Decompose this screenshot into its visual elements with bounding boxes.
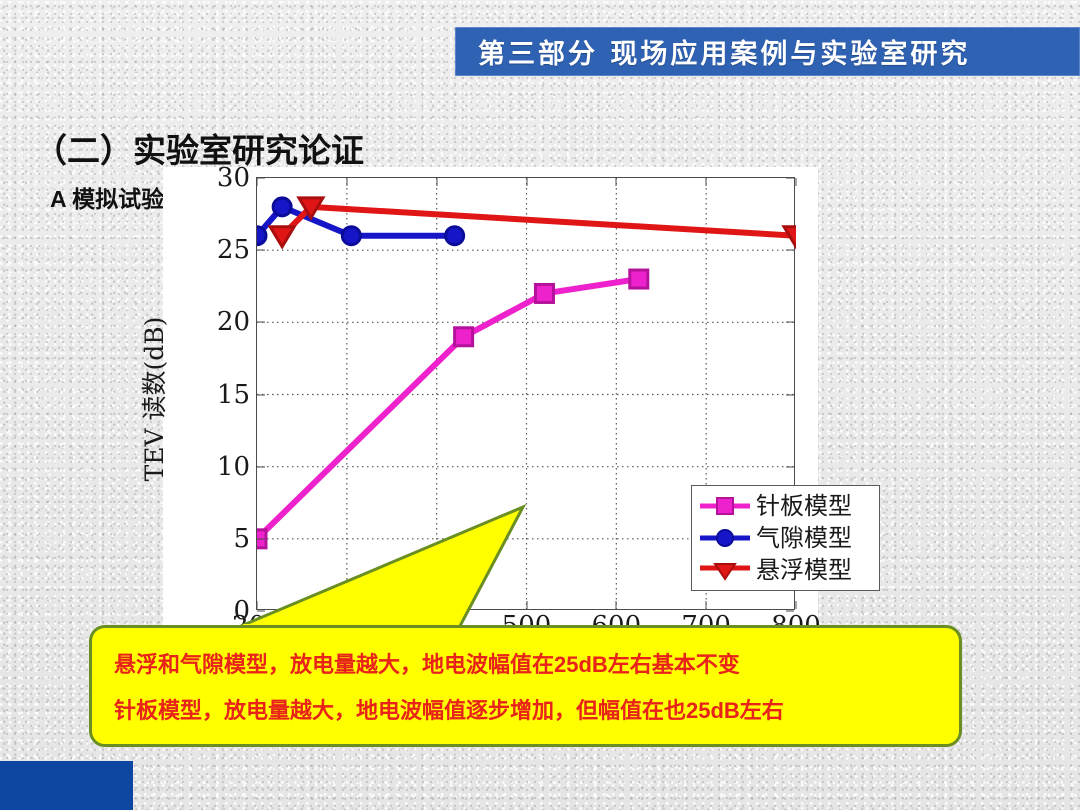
y-tick-label: 5 [233, 524, 250, 554]
data-point-marker [270, 227, 294, 247]
header-title: 第三部分 现场应用案例与实验室研究 [456, 32, 970, 71]
callout-line-2: 针板模型，放电量越大，地电波幅值逐步增加，但幅值在也25dB左右 [114, 693, 937, 725]
x-tick-mark [346, 601, 347, 609]
y-tick-mark [257, 322, 265, 323]
callout-line-1: 悬浮和气隙模型，放电量越大，地电波幅值在25dB左右基本不变 [114, 647, 937, 679]
bottom-accent-bar [0, 761, 133, 810]
y-tick-mark [786, 178, 794, 179]
data-point-marker [342, 227, 360, 245]
chart-figure: TEV 读数(dB) 针板模型 气隙模型 [163, 167, 818, 630]
legend-swatch-circle-icon [698, 527, 752, 549]
data-point-marker [535, 284, 553, 302]
x-tick-mark [346, 178, 347, 186]
legend-item: 悬浮模型 [698, 555, 873, 586]
y-tick-mark [257, 250, 265, 251]
x-tick-mark [526, 601, 527, 609]
y-tick-mark [786, 322, 794, 323]
y-tick-mark [257, 394, 265, 395]
data-point-marker [446, 227, 464, 245]
x-tick-mark [616, 178, 617, 186]
x-tick-mark [796, 601, 797, 609]
y-tick-mark [257, 178, 265, 179]
legend-swatch-square-icon [698, 495, 752, 517]
y-tick-mark [786, 394, 794, 395]
y-tick-mark [786, 466, 794, 467]
data-point-marker [630, 270, 648, 288]
x-tick-mark [436, 601, 437, 609]
legend-label: 针板模型 [756, 494, 852, 518]
plot-area: 针板模型 气隙模型 悬浮模型 0510152025302003004005006… [256, 177, 795, 610]
x-tick-mark [796, 178, 797, 186]
y-tick-mark [257, 466, 265, 467]
legend-label: 气隙模型 [756, 526, 852, 550]
x-tick-mark [257, 601, 258, 609]
y-tick-mark [786, 538, 794, 539]
y-tick-mark [786, 250, 794, 251]
callout-box: 悬浮和气隙模型，放电量越大，地电波幅值在25dB左右基本不变 针板模型，放电量越… [89, 625, 962, 747]
page-subtitle: A 模拟试验 [50, 180, 164, 214]
legend-label: 悬浮模型 [756, 558, 852, 582]
x-tick-mark [706, 601, 707, 609]
data-point-marker [273, 198, 291, 216]
x-tick-mark [526, 178, 527, 186]
data-point-marker [257, 227, 266, 245]
y-axis-title: TEV 读数(dB) [135, 316, 171, 481]
y-tick-label: 25 [217, 235, 250, 265]
legend-swatch-triangle-icon [698, 559, 752, 581]
y-tick-label: 30 [217, 163, 250, 193]
x-tick-mark [706, 178, 707, 186]
page-title: （二）实验室研究论证 [34, 124, 364, 172]
x-tick-mark [616, 601, 617, 609]
y-tick-label: 15 [217, 380, 250, 410]
legend-item: 针板模型 [698, 491, 873, 522]
y-tick-label: 10 [217, 452, 250, 482]
x-tick-mark [436, 178, 437, 186]
y-tick-label: 20 [217, 307, 250, 337]
slide-canvas: 第三部分 现场应用案例与实验室研究 （二）实验室研究论证 A 模拟试验 TEV … [0, 0, 1080, 810]
x-tick-mark [257, 178, 258, 186]
y-tick-mark [257, 538, 265, 539]
header-banner: 第三部分 现场应用案例与实验室研究 [455, 27, 1080, 76]
data-point-marker [455, 328, 473, 346]
